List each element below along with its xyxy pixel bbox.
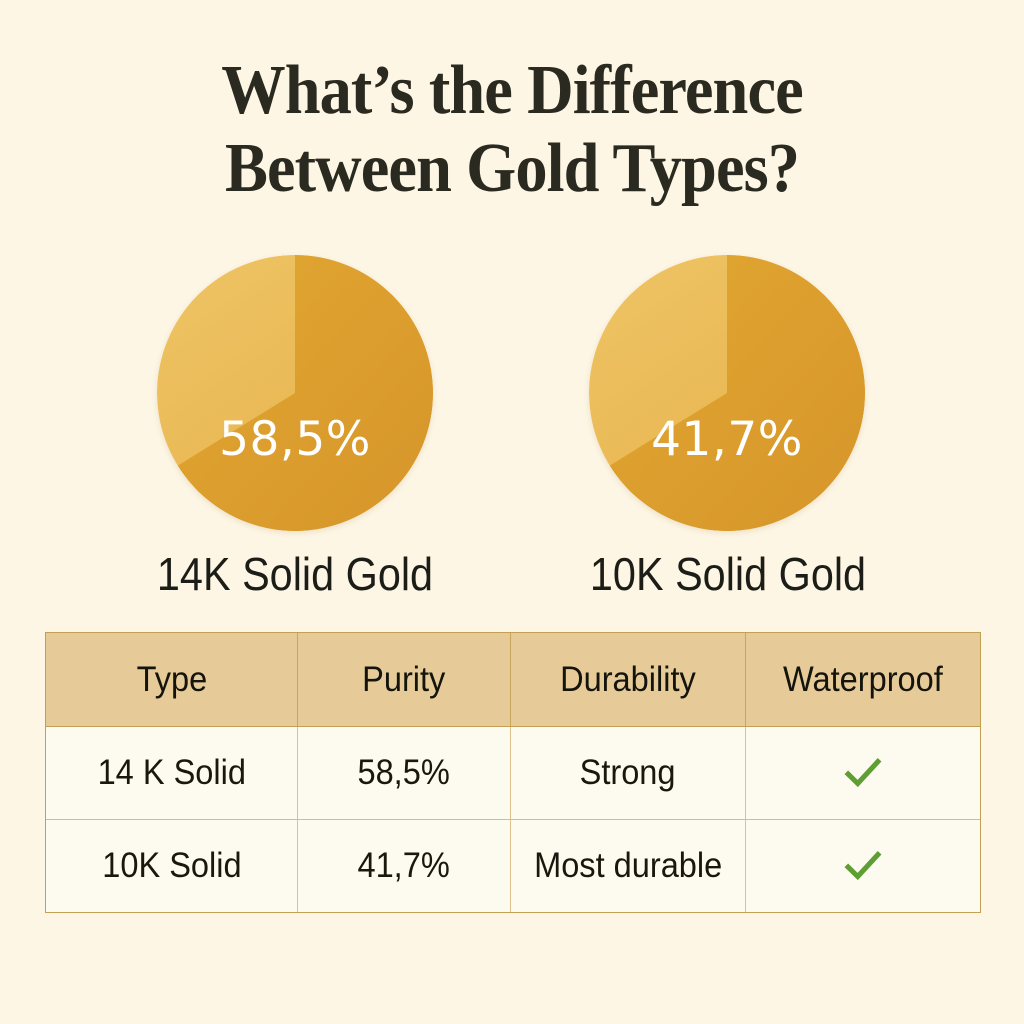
page-title-line-2: Between Gold Types? <box>41 130 983 208</box>
table-cell-purity: 58,5% <box>298 727 511 819</box>
table-cell-waterproof <box>746 727 980 819</box>
table-cell-durability: Strong <box>511 727 746 819</box>
table-cell-waterproof <box>746 820 980 912</box>
pie-chart-group: 58,5% 41,7% <box>0 255 1024 540</box>
table-row: 10K Solid 41,7% Most durable <box>46 820 980 912</box>
table-header-purity: Purity <box>298 633 511 726</box>
pie-caption-group: 14K Solid Gold 10K Solid Gold <box>0 546 1024 604</box>
check-icon <box>842 752 884 794</box>
table-cell-type: 10K Solid <box>46 820 298 912</box>
table-cell-purity: 41,7% <box>298 820 511 912</box>
page-title-line-1: What’s the Difference <box>41 52 983 130</box>
table-header-row: Type Purity Durability Waterproof <box>46 633 980 727</box>
pie-caption-10k: 10K Solid Gold <box>539 546 917 602</box>
pie-caption-14k: 14K Solid Gold <box>106 546 484 602</box>
pie-10k-value-label: 41,7% <box>589 412 865 467</box>
table-header-durability: Durability <box>511 633 746 726</box>
pie-14k-svg <box>157 255 433 531</box>
pie-chart-10k-graphic <box>589 255 865 531</box>
comparison-table: Type Purity Durability Waterproof 14 K S… <box>45 632 981 913</box>
check-icon <box>842 845 884 887</box>
table-cell-durability: Most durable <box>511 820 746 912</box>
pie-chart-14k: 58,5% <box>157 255 433 531</box>
table-row: 14 K Solid 58,5% Strong <box>46 727 980 820</box>
table-cell-type: 14 K Solid <box>46 727 298 819</box>
pie-chart-10k: 41,7% <box>589 255 865 531</box>
pie-chart-14k-graphic <box>157 255 433 531</box>
pie-10k-svg <box>589 255 865 531</box>
table-header-type: Type <box>46 633 298 726</box>
pie-14k-value-label: 58,5% <box>157 412 433 467</box>
page-title: What’s the Difference Between Gold Types… <box>0 52 1024 208</box>
table-header-waterproof: Waterproof <box>746 633 980 726</box>
